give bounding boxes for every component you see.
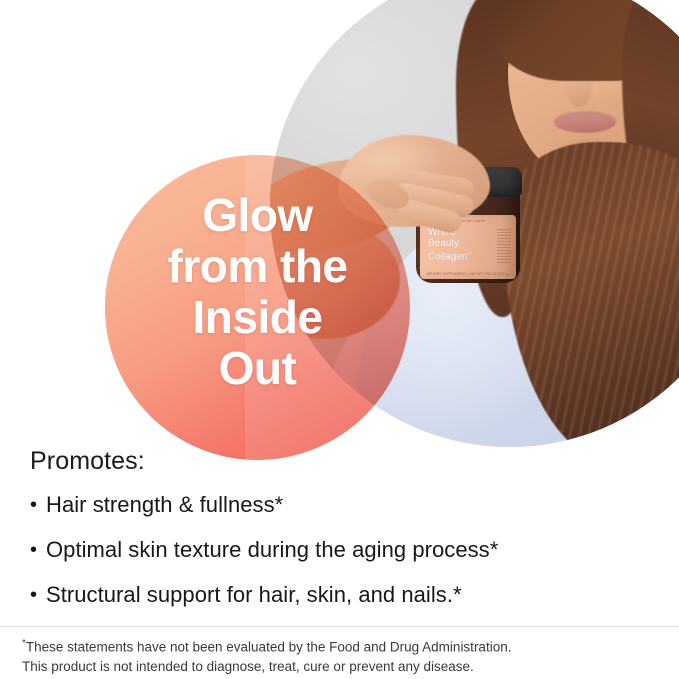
headline-line-4: Out bbox=[105, 343, 410, 394]
headline-line-1: Glow bbox=[105, 190, 410, 241]
bullet-icon: • bbox=[30, 493, 46, 517]
promotes-section: Promotes: • Hair strength & fullness* • … bbox=[30, 447, 650, 628]
benefits-list: • Hair strength & fullness* • Optimal sk… bbox=[30, 493, 650, 607]
label-fineprint-block bbox=[497, 229, 511, 265]
disclaimer-line-2: This product is not intended to diagnose… bbox=[22, 659, 474, 674]
headline: Glow from the Inside Out bbox=[105, 190, 410, 394]
list-item: • Optimal skin texture during the aging … bbox=[30, 538, 650, 562]
product-name-line2: Beauty bbox=[428, 238, 459, 249]
headline-line-2: from the bbox=[105, 241, 410, 292]
headline-line-3: Inside bbox=[105, 292, 410, 343]
list-item: • Hair strength & fullness* bbox=[30, 493, 650, 517]
bullet-icon: • bbox=[30, 538, 46, 562]
divider bbox=[0, 626, 679, 627]
list-item: • Structural support for hair, skin, and… bbox=[30, 583, 650, 607]
promotes-label: Promotes: bbox=[30, 447, 650, 476]
benefit-text: Hair strength & fullness* bbox=[46, 493, 283, 517]
product-name: Whole Beauty Collagen™ bbox=[428, 228, 471, 263]
product-name-line3: Collagen bbox=[428, 251, 467, 262]
benefit-text: Structural support for hair, skin, and n… bbox=[46, 583, 462, 607]
lips bbox=[554, 111, 616, 133]
fda-disclaimer: *These statements have not been evaluate… bbox=[22, 634, 662, 676]
trademark-symbol: ™ bbox=[467, 251, 471, 256]
benefit-text: Optimal skin texture during the aging pr… bbox=[46, 538, 498, 562]
disclaimer-line-1: These statements have not been evaluated… bbox=[26, 640, 512, 655]
label-footer-text: DIETARY SUPPLEMENT • NET WT 9.52 OZ (270… bbox=[420, 272, 516, 276]
bullet-icon: • bbox=[30, 583, 46, 607]
product-marketing-image: designs for health Whole Beauty Collagen… bbox=[0, 0, 679, 679]
